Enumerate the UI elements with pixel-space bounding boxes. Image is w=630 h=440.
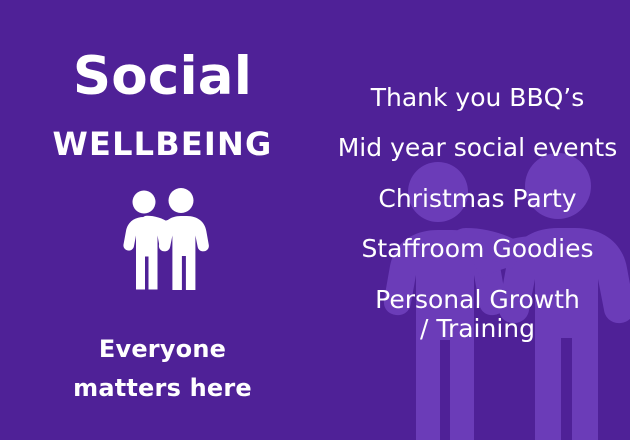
list-item: Staffroom Goodies	[333, 234, 622, 264]
tagline-line-1: Everyone	[73, 330, 252, 369]
page-subtitle: WELLBEING	[53, 128, 273, 160]
list-item-line-1: Personal Growth	[375, 285, 580, 314]
page-title: Social	[73, 50, 252, 103]
list-item: Mid year social events	[333, 133, 622, 163]
social-wellbeing-poster: Social WELLBEING	[0, 0, 630, 440]
two-people-icon	[111, 188, 215, 290]
activities-column: Thank you BBQ’s Mid year social events C…	[325, 0, 630, 440]
branding-column: Social WELLBEING	[0, 0, 325, 440]
activity-list: Thank you BBQ’s Mid year social events C…	[333, 83, 622, 344]
poster-columns: Social WELLBEING	[0, 0, 630, 440]
tagline-line-2: matters here	[73, 369, 252, 408]
list-item: Personal Growth / Training	[333, 285, 622, 344]
list-item: Thank you BBQ’s	[333, 83, 622, 113]
tagline: Everyone matters here	[73, 330, 252, 408]
list-item-line-2: / Training	[333, 314, 622, 344]
list-item: Christmas Party	[333, 184, 622, 214]
